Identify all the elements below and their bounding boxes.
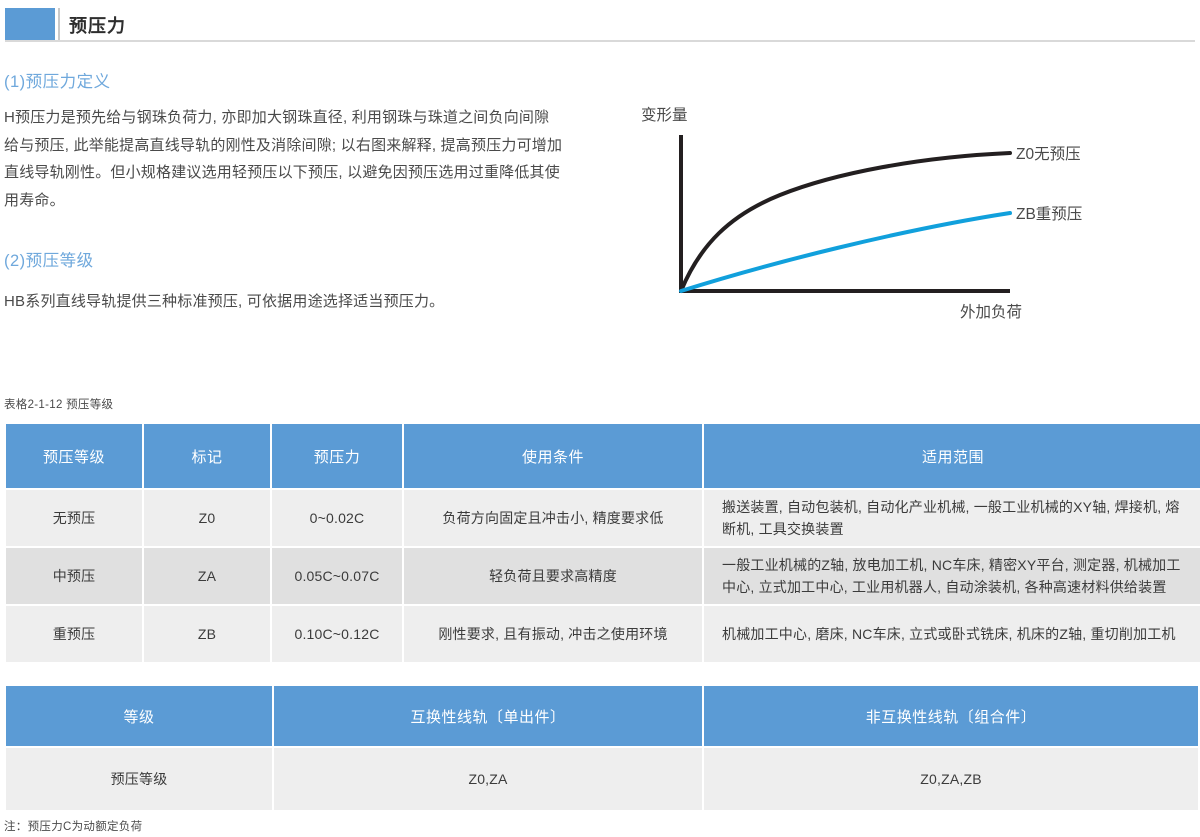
chart-x-axis-label: 外加负荷 <box>960 300 1022 322</box>
col-header-grade: 等级 <box>6 686 272 746</box>
cell-condition: 轻负荷且要求高精度 <box>404 548 702 604</box>
cell-interchangeable: Z0,ZA <box>274 748 702 810</box>
cell-application: 机械加工中心, 磨床, NC车床, 立式或卧式铣床, 机床的Z轴, 重切削加工机 <box>704 606 1200 662</box>
col-header-interchangeable: 互换性线轨〔单出件〕 <box>274 686 702 746</box>
col-header-application: 适用范围 <box>704 424 1200 488</box>
table-row: 预压等级 Z0,ZA Z0,ZA,ZB <box>6 748 1198 810</box>
col-header-grade: 预压等级 <box>6 424 142 488</box>
cell-condition: 刚性要求, 且有振动, 冲击之使用环境 <box>404 606 702 662</box>
section-heading-definition: (1)预压力定义 <box>4 68 111 92</box>
cell-application: 搬送装置, 自动包装机, 自动化产业机械, 一般工业机械的XY轴, 焊接机, 熔… <box>704 490 1200 546</box>
col-header-non-interchangeable: 非互换性线轨〔组合件〕 <box>704 686 1198 746</box>
chart-y-axis-label: 变形量 <box>641 103 688 125</box>
table-caption-preload: 表格2-1-12 预压等级 <box>4 396 113 412</box>
cell-force: 0~0.02C <box>272 490 402 546</box>
cell-grade: 无预压 <box>6 490 142 546</box>
section-heading-grades: (2)预压等级 <box>4 247 94 271</box>
page-title: 预压力 <box>69 12 126 38</box>
preload-grade-table: 预压等级 标记 预压力 使用条件 适用范围 无预压 Z0 0~0.02C 负荷方… <box>4 422 1200 664</box>
table-row: 无预压 Z0 0~0.02C 负荷方向固定且冲击小, 精度要求低 搬送装置, 自… <box>6 490 1200 546</box>
table-footnote: 注：预压力C为动额定负荷 <box>4 818 142 834</box>
cell-force: 0.10C~0.12C <box>272 606 402 662</box>
page-header: 预压力 <box>5 8 1195 42</box>
col-header-mark: 标记 <box>144 424 270 488</box>
table-header-row: 等级 互换性线轨〔单出件〕 非互换性线轨〔组合件〕 <box>6 686 1198 746</box>
cell-mark: ZA <box>144 548 270 604</box>
table-header-row: 预压等级 标记 预压力 使用条件 适用范围 <box>6 424 1200 488</box>
table-row: 中预压 ZA 0.05C~0.07C 轻负荷且要求高精度 一般工业机械的Z轴, … <box>6 548 1200 604</box>
section-body-definition: H预压力是预先给与钢珠负荷力, 亦即加大钢珠直径, 利用钢珠与珠道之间负向间隙给… <box>4 104 564 214</box>
cell-force: 0.05C~0.07C <box>272 548 402 604</box>
chart-series-label-z0: Z0无预压 <box>1016 142 1081 164</box>
chart-series-label-zb: ZB重预压 <box>1016 202 1082 224</box>
cell-mark: Z0 <box>144 490 270 546</box>
cell-grade: 预压等级 <box>6 748 272 810</box>
col-header-force: 预压力 <box>272 424 402 488</box>
cell-condition: 负荷方向固定且冲击小, 精度要求低 <box>404 490 702 546</box>
cell-grade: 中预压 <box>6 548 142 604</box>
cell-application: 一般工业机械的Z轴, 放电加工机, NC车床, 精密XY平台, 测定器, 机械加… <box>704 548 1200 604</box>
chart-svg <box>620 95 1195 335</box>
cell-grade: 重预压 <box>6 606 142 662</box>
header-divider <box>58 8 60 40</box>
cell-mark: ZB <box>144 606 270 662</box>
interchangeability-grade-table: 等级 互换性线轨〔单出件〕 非互换性线轨〔组合件〕 预压等级 Z0,ZA Z0,… <box>4 684 1200 812</box>
cell-non-interchangeable: Z0,ZA,ZB <box>704 748 1198 810</box>
header-accent-block <box>5 8 55 40</box>
table-row: 重预压 ZB 0.10C~0.12C 刚性要求, 且有振动, 冲击之使用环境 机… <box>6 606 1200 662</box>
section-body-grades: HB系列直线导轨提供三种标准预压, 可依据用途选择适当预压力。 <box>4 288 564 316</box>
preload-deformation-chart: 变形量 外加负荷 Z0无预压 ZB重预压 <box>620 95 1195 335</box>
col-header-condition: 使用条件 <box>404 424 702 488</box>
